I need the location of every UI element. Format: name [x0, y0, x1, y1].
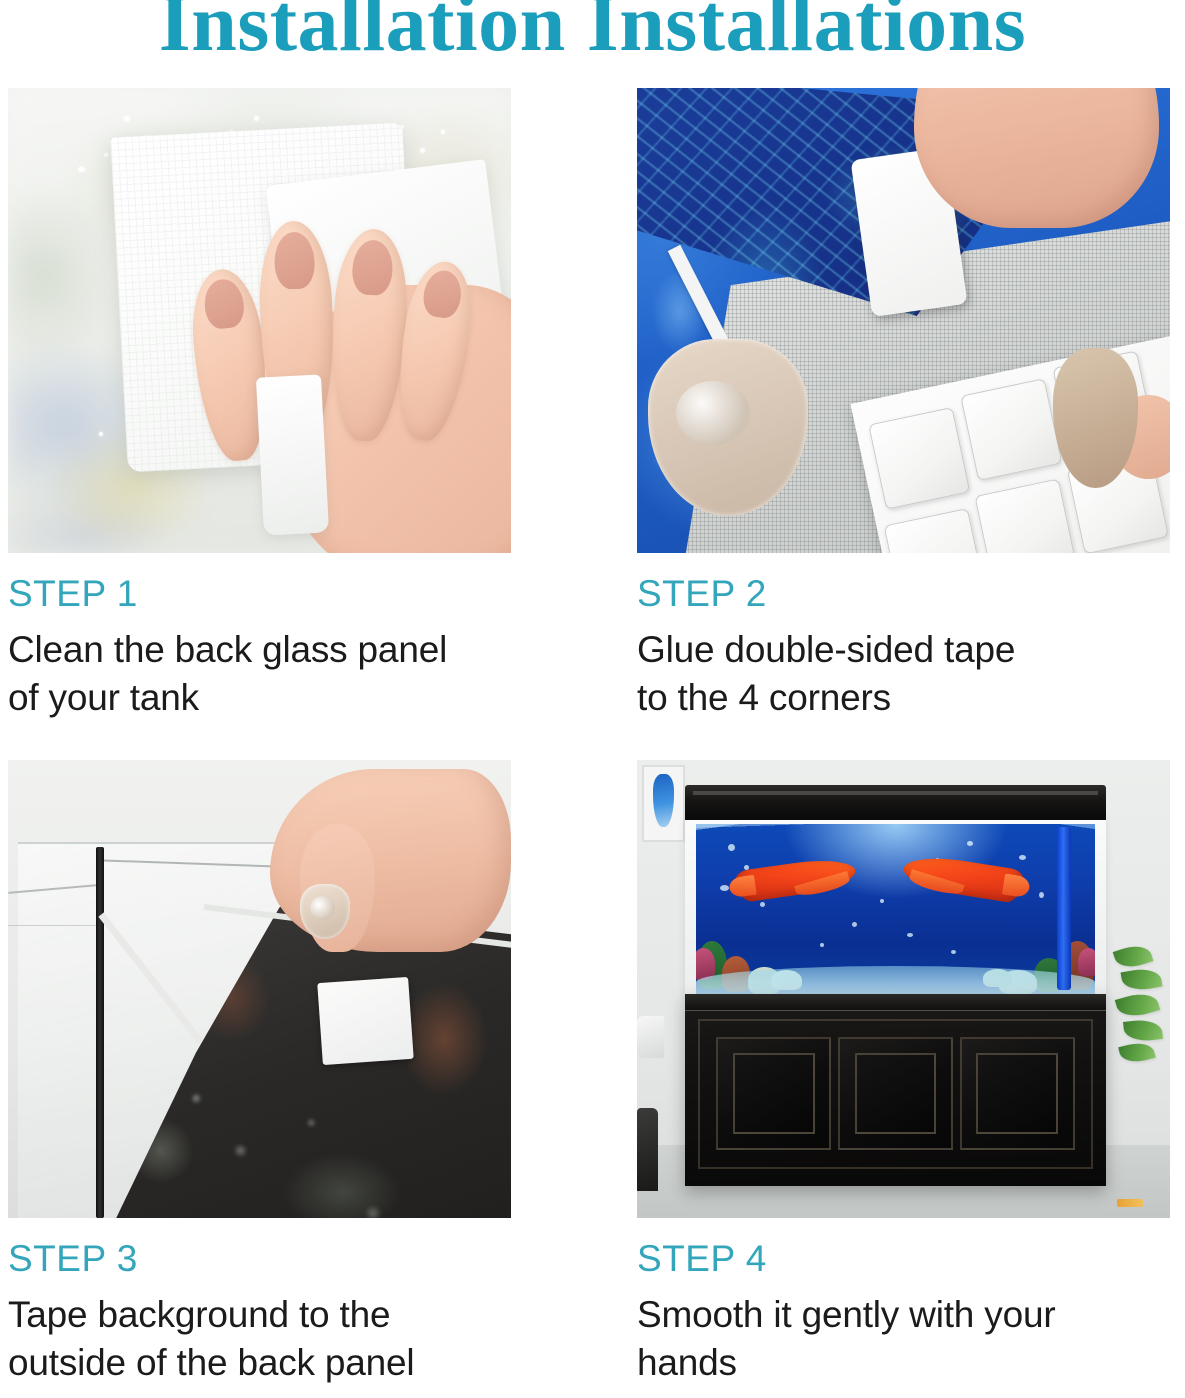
side-object-bottom	[637, 1108, 658, 1190]
fingernail	[421, 268, 464, 319]
step-4-caption: Smooth it gently with your hands	[637, 1291, 1170, 1387]
house-plant	[1111, 943, 1170, 1071]
double-sided-tape-square	[317, 977, 413, 1066]
aquarium-background-scene	[696, 824, 1096, 993]
step-1-caption: Clean the back glass panel of your tank	[8, 626, 511, 722]
tank-corner-trim	[96, 847, 104, 1218]
sand-bed	[696, 966, 1096, 993]
aquarium-hood	[685, 785, 1106, 819]
step-1-label: STEP 1	[8, 575, 511, 612]
hand	[174, 181, 511, 553]
aquarium-cabinet-stand	[685, 994, 1106, 1186]
step-card-1: STEP 1 Clean the back glass panel of you…	[8, 88, 511, 722]
page-title: Installation Installations	[159, 0, 1026, 64]
step-4-label: STEP 4	[637, 1240, 1170, 1277]
step-card-4: STEP 4 Smooth it gently with your hands	[637, 760, 1170, 1387]
step-3-label: STEP 3	[8, 1240, 511, 1277]
cabinet-top-trim	[685, 994, 1106, 1011]
page-title-container: Installation Installations	[0, 0, 1185, 72]
installation-instructions-page: Installation Installations	[0, 0, 1185, 1398]
tank-inner-line	[8, 925, 99, 926]
step-2-caption: Glue double-sided tape to the 4 corners	[637, 626, 1170, 722]
cloth-edge-under-thumb	[255, 375, 329, 536]
step-2-label: STEP 2	[637, 575, 1170, 612]
step-3-caption: Tape background to the outside of the ba…	[8, 1291, 511, 1387]
step-card-2: STEP 2 Glue double-sided tape to the 4 c…	[637, 88, 1170, 722]
cabinet-door[interactable]	[960, 1037, 1075, 1149]
fingernail	[202, 277, 246, 331]
step-2-photo	[637, 88, 1170, 553]
step-1-photo	[8, 88, 511, 553]
blue-filter-tube	[1057, 827, 1071, 990]
cabinet-doors	[698, 1019, 1094, 1169]
floor-accent-object	[1117, 1199, 1144, 1206]
step-card-3: STEP 3 Tape background to the outside of…	[8, 760, 511, 1387]
fingernail	[351, 239, 394, 296]
step-3-photo	[8, 760, 511, 1218]
cabinet-door[interactable]	[716, 1037, 831, 1149]
wall-picture-frame	[642, 765, 685, 843]
cabinet-door[interactable]	[838, 1037, 953, 1149]
step-4-photo	[637, 760, 1170, 1218]
fingernail	[273, 231, 316, 290]
side-object-top	[637, 1016, 664, 1057]
steps-grid: STEP 1 Clean the back glass panel of you…	[0, 0, 1185, 1398]
